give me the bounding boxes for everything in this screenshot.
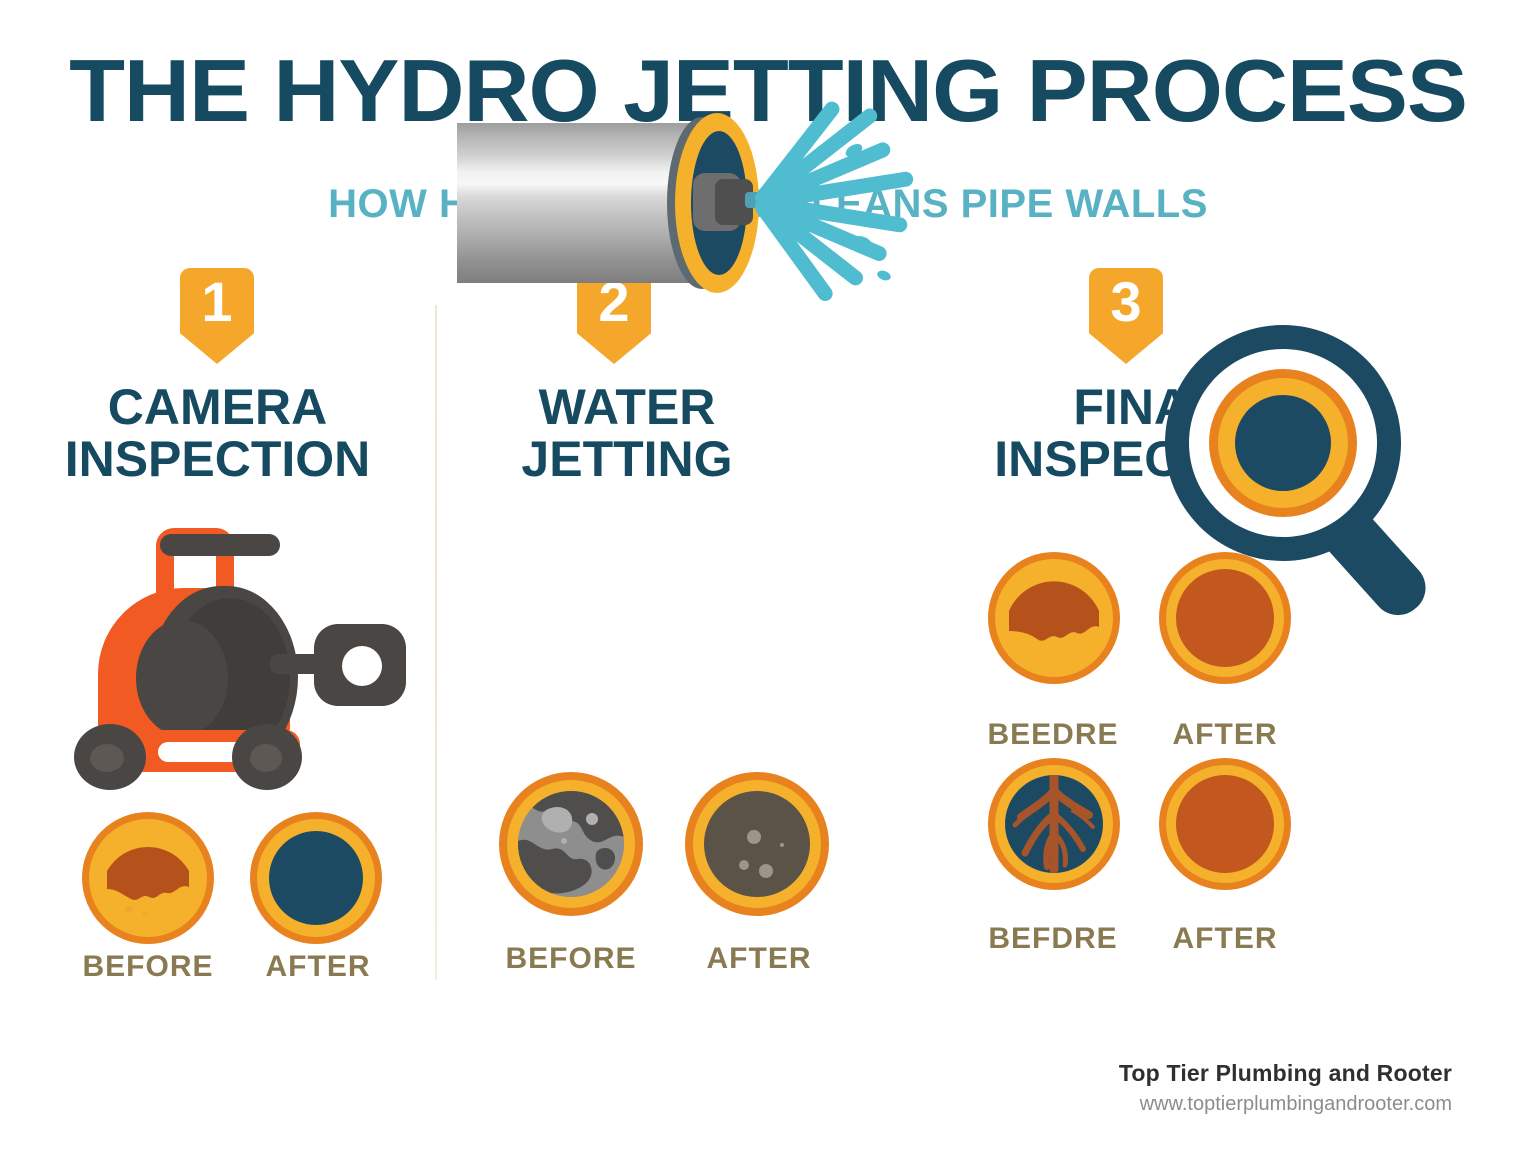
footer-brand: Top Tier Plumbing and Rooter [1119, 1060, 1452, 1087]
pipe-label-after-2: AFTER [619, 942, 899, 976]
step-column-2: 2 WATER JETTING [437, 0, 937, 1154]
infographic-canvas: THE HYDRO JETTING PROCESS HOW HYDRO JETT… [0, 0, 1536, 1154]
pipe-label-after-3a: AFTER [1077, 718, 1373, 752]
footer-url[interactable]: www.toptierplumbingandrooter.com [1119, 1093, 1452, 1116]
step-title-1: CAMERA INSPECTION [0, 382, 435, 485]
step-column-3: 3 FINAL INSPECTION BEEDRE A [937, 0, 1536, 1154]
pipe-cross-section-after [1159, 552, 1291, 684]
pipe-label-after-3b: AFTER [1077, 922, 1373, 956]
pipe-cross-section-before [82, 812, 214, 944]
sludge-shape [1005, 569, 1103, 667]
cable-reel-cart-icon [70, 528, 360, 793]
step-badge-1: 1 [180, 268, 254, 364]
pipe-cross-section-after [685, 772, 829, 916]
step-title-2: WATER JETTING [377, 382, 877, 485]
pipe-cross-section-before [988, 758, 1120, 890]
step-badge-3: 3 [1089, 268, 1163, 364]
pipe-cross-section-after [1159, 758, 1291, 890]
pipe-cross-section-before [988, 552, 1120, 684]
tree-roots-icon [1005, 775, 1103, 873]
scale-texture [518, 791, 624, 897]
pipe-cross-section-after [250, 812, 382, 944]
residue-spots [704, 791, 810, 897]
pipe-cross-section-before [499, 772, 643, 916]
water-spray-icon [757, 95, 937, 310]
footer: Top Tier Plumbing and Rooter www.toptier… [1119, 1060, 1452, 1116]
sludge-shape [101, 831, 195, 925]
pipe-label-after-1: AFTER [170, 950, 466, 984]
step-column-1: 1 CAMERA INSPECTION [0, 0, 435, 1154]
jet-nozzle-spray-icon [457, 95, 937, 310]
